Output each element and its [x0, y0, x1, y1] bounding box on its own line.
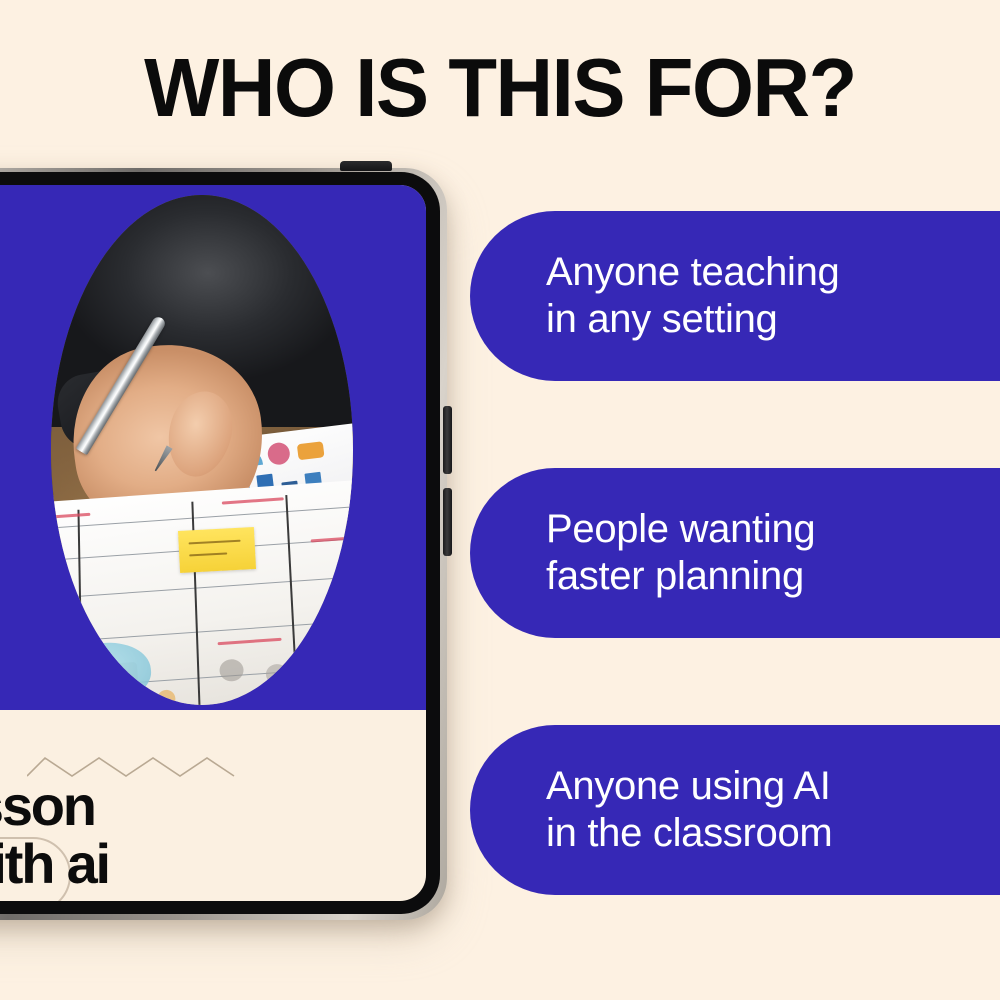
screen-image-panel: [0, 185, 426, 710]
tablet-mockup: ft Inside simple lesson lanning with ai: [0, 168, 450, 928]
audience-pill-2[interactable]: People wanting faster planning: [470, 468, 1000, 638]
audience-pill-2-label: People wanting faster planning: [546, 506, 815, 600]
screen-title-line-1: simple lesson: [0, 777, 426, 835]
audience-pill-3-label: Anyone using AI in the classroom: [546, 763, 832, 857]
tablet-screen[interactable]: ft Inside simple lesson lanning with ai: [0, 185, 426, 901]
poster-canvas: WHO IS THIS FOR?: [0, 0, 1000, 1000]
page-title: WHO IS THIS FOR?: [20, 44, 980, 132]
screen-title-line-2: lanning with ai: [0, 835, 426, 893]
volume-down-button[interactable]: [443, 488, 452, 556]
audience-pill-3[interactable]: Anyone using AI in the classroom: [470, 725, 1000, 895]
audience-pill-1[interactable]: Anyone teaching in any setting: [470, 211, 1000, 381]
screen-title: simple lesson lanning with ai: [0, 777, 426, 893]
volume-up-button[interactable]: [443, 406, 452, 474]
audience-pill-1-label: Anyone teaching in any setting: [546, 249, 840, 343]
photo-sticky-note: [178, 527, 256, 573]
oval-photo: [51, 195, 353, 705]
power-button[interactable]: [340, 161, 392, 171]
